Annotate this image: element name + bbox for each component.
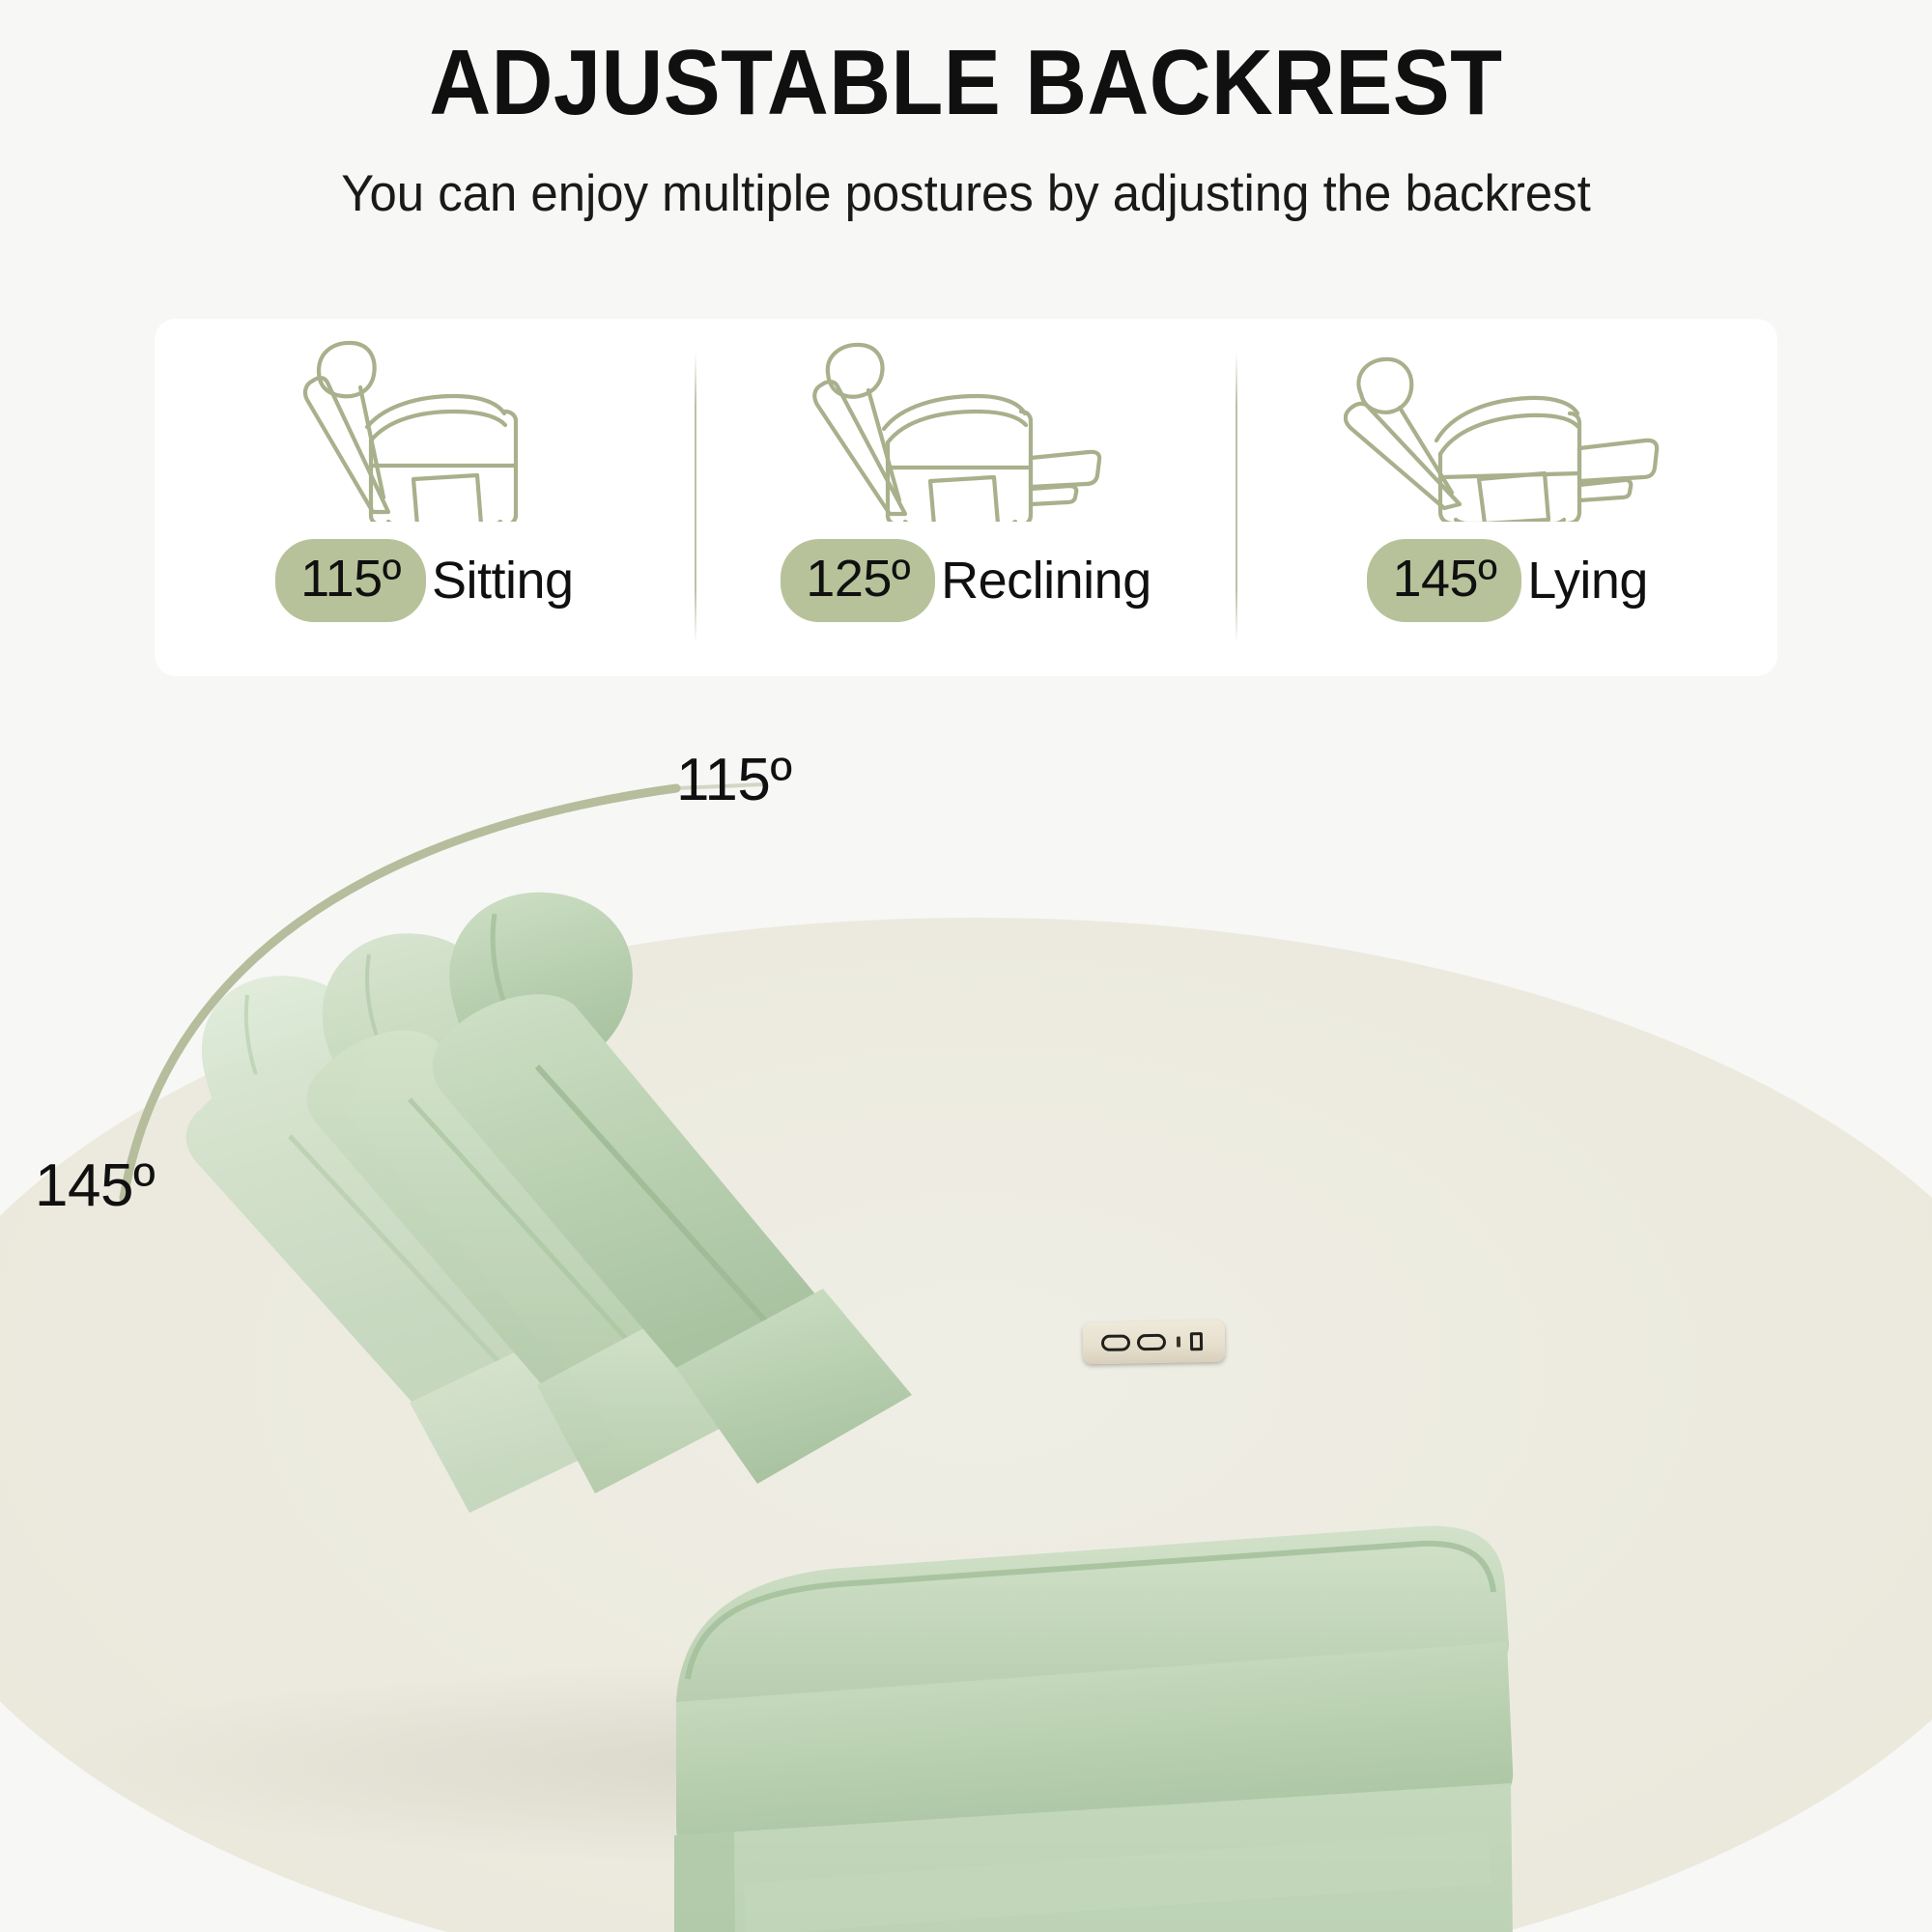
- posture-name-lying: Lying: [1527, 554, 1648, 607]
- page-subtitle: You can enjoy multiple postures by adjus…: [39, 166, 1893, 222]
- posture-name-reclining: Reclining: [941, 554, 1151, 607]
- angle-annotation-115: 115º: [676, 751, 792, 810]
- posture-name-sitting: Sitting: [432, 554, 574, 607]
- angle-annotation-145: 145º: [35, 1156, 155, 1216]
- status-led: [1177, 1337, 1180, 1348]
- posture-column-lying: 145º Lying: [1237, 319, 1777, 676]
- posture-label-row-lying: 145º Lying: [1367, 539, 1647, 622]
- recliner-sitting-icon: [284, 332, 564, 522]
- recline-button[interactable]: [1101, 1334, 1130, 1351]
- usb-port[interactable]: [1190, 1332, 1203, 1350]
- posture-column-sitting: 115º Sitting: [155, 319, 695, 676]
- recliner-product-illustration: [0, 676, 1932, 1932]
- posture-card: 115º Sitting: [155, 319, 1777, 676]
- angle-badge-sitting: 115º: [275, 539, 426, 622]
- page-title: ADJUSTABLE BACKREST: [77, 37, 1855, 129]
- recliner-reclining-icon: [807, 332, 1125, 522]
- posture-label-row-sitting: 115º Sitting: [275, 539, 573, 622]
- angle-badge-lying: 145º: [1367, 539, 1521, 622]
- posture-label-row-reclining: 125º Reclining: [781, 539, 1151, 622]
- posture-column-reclining: 125º Reclining: [696, 319, 1236, 676]
- lift-button[interactable]: [1137, 1334, 1166, 1351]
- recliner-lying-icon: [1344, 332, 1672, 522]
- angle-badge-reclining: 125º: [781, 539, 935, 622]
- power-control-panel[interactable]: [1083, 1321, 1226, 1365]
